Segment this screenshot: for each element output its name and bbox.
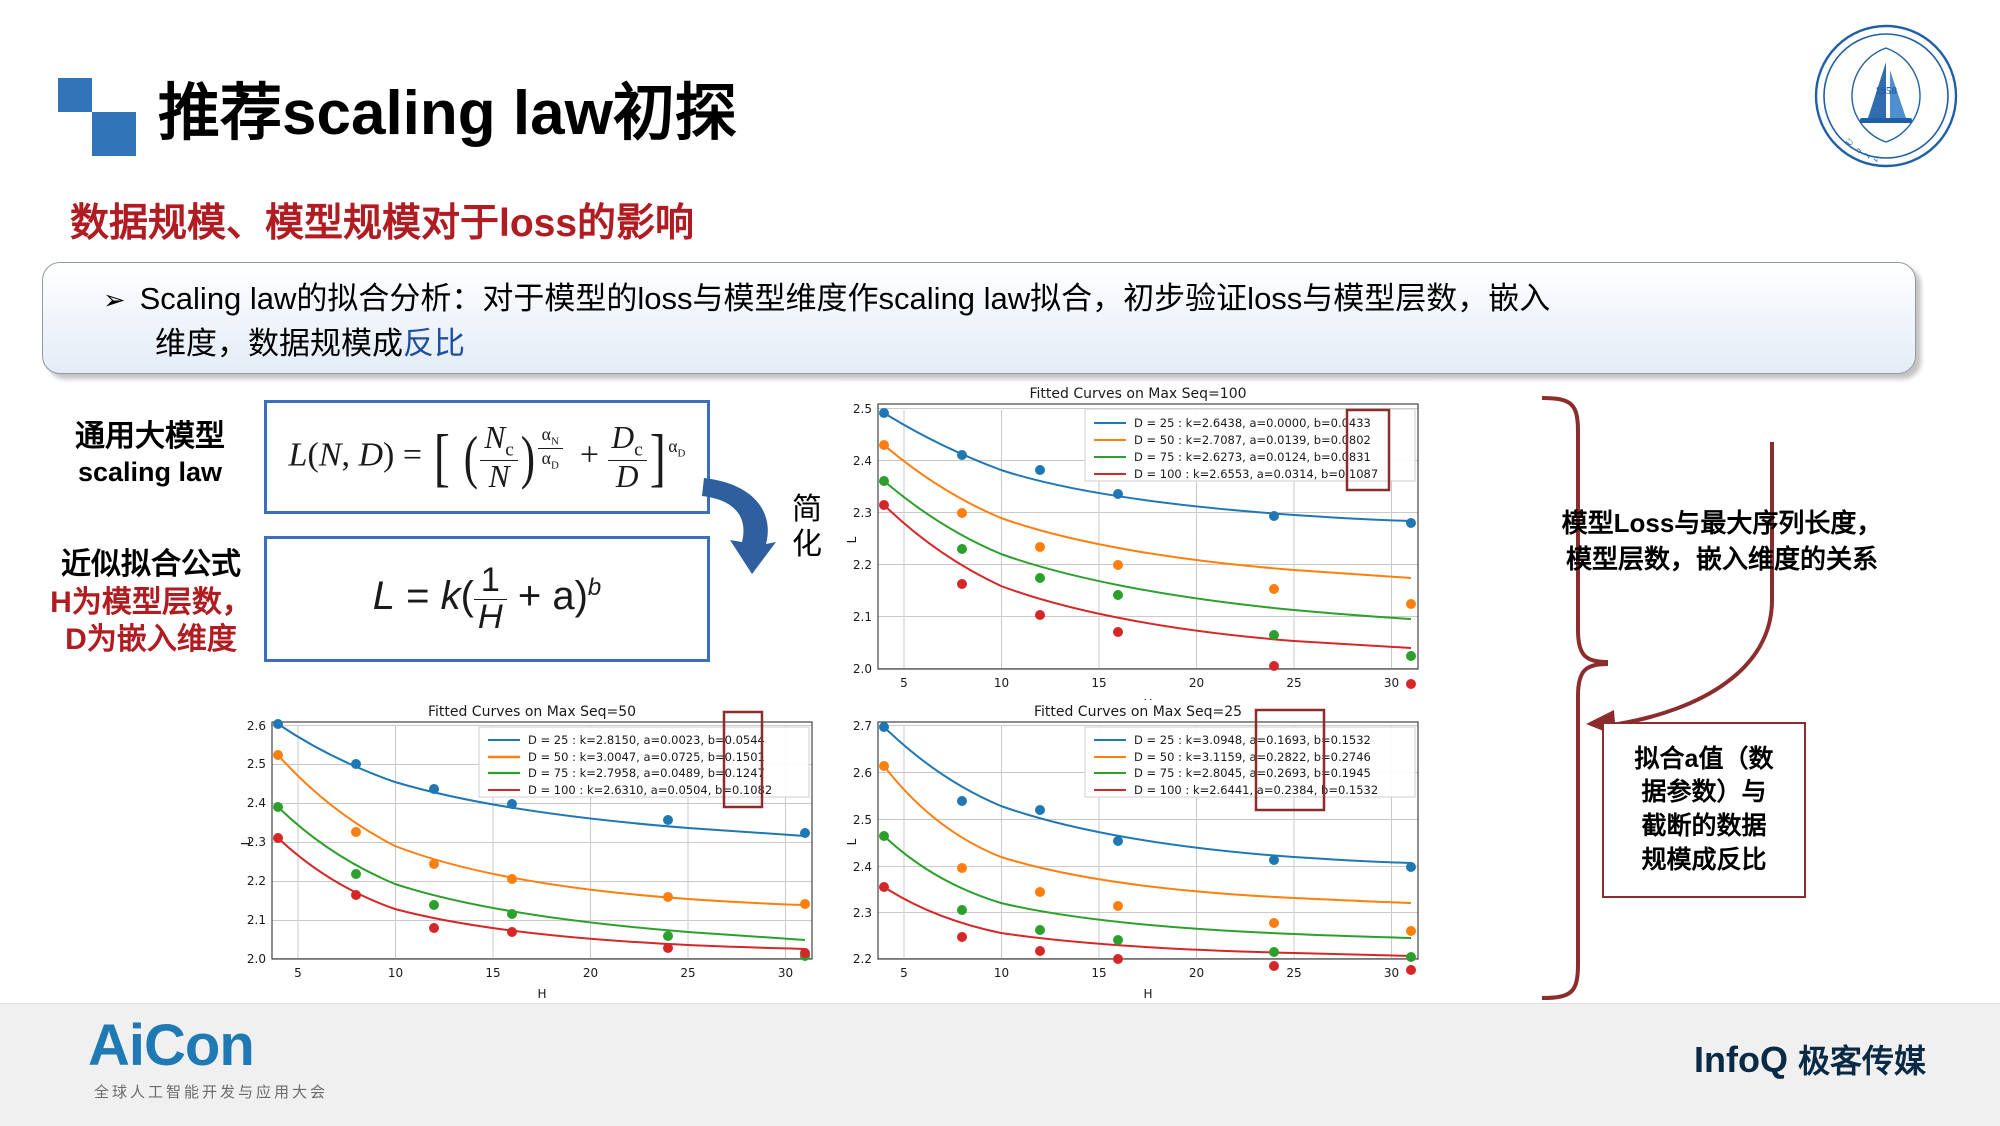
- svg-text:2.1: 2.1: [247, 913, 266, 927]
- svg-text:30: 30: [1384, 676, 1399, 690]
- svg-text:30: 30: [1384, 966, 1399, 980]
- svg-text:2.4: 2.4: [247, 796, 266, 810]
- legend-item: D = 50 : k=3.0047, a=0.0725, b=0.1501: [528, 750, 765, 764]
- annotation-box-line3: 截断的数据: [1635, 810, 1774, 844]
- approx-label-cn: 近似拟合公式: [26, 546, 276, 584]
- chart-legend-25: D = 25 : k=3.0948, a=0.1693, b=0.1532 D …: [1085, 727, 1415, 797]
- logo-year: 1958: [1875, 85, 1898, 97]
- svg-text:25: 25: [680, 966, 695, 980]
- annotation-box-line4: 规模成反比: [1635, 844, 1774, 878]
- svg-text:2.5: 2.5: [853, 813, 872, 827]
- approx-formula-box: L = k( 1H + a)b: [264, 536, 710, 662]
- chart-title-100: Fitted Curves on Max Seq=100: [1029, 386, 1246, 402]
- svg-text:2.6: 2.6: [853, 766, 872, 780]
- legend-item: D = 25 : k=2.8150, a=0.0023, b=0.0544: [528, 733, 765, 747]
- general-scaling-law-label: 通用大模型 scaling law: [50, 418, 250, 489]
- svg-text:2.7: 2.7: [853, 719, 872, 733]
- annotation-box-line2: 据参数）与: [1635, 776, 1774, 810]
- svg-text:2.2: 2.2: [853, 952, 872, 966]
- svg-text:5: 5: [294, 966, 302, 980]
- svg-text:10: 10: [388, 966, 403, 980]
- legend-item: D = 50 : k=3.1159, a=0.2822, b=0.2746: [1134, 750, 1371, 764]
- svg-text:H: H: [1143, 987, 1152, 1001]
- chart-max-seq-50: Fitted Curves on Max Seq=50 2.02.12.2 2.…: [232, 700, 832, 1012]
- approx-note-1: H为模型层数，: [26, 584, 276, 622]
- chart-max-seq-100: Fitted Curves on Max Seq=100 2.02.12.2 2…: [838, 382, 1438, 722]
- legend-item: D = 75 : k=2.6273, a=0.0124, b=0.0831: [1134, 450, 1371, 464]
- svg-text:5: 5: [900, 676, 908, 690]
- chart-legend-50: D = 25 : k=2.8150, a=0.0023, b=0.0544 D …: [479, 727, 809, 797]
- title-bullet-decoration: [58, 78, 136, 156]
- svg-text:2.6: 2.6: [247, 719, 266, 733]
- approx-formula: L = k( 1H + a)b: [373, 563, 602, 634]
- legend-item: D = 25 : k=2.6438, a=0.0000, b=0.0433: [1134, 416, 1371, 430]
- annotation-right-box: 拟合a值（数 据参数）与 截断的数据 规模成反比: [1602, 722, 1806, 898]
- svg-text:L: L: [845, 536, 859, 543]
- svg-text:15: 15: [1091, 676, 1106, 690]
- callout-text: ➢Scaling law的拟合分析：对于模型的loss与模型维度作scaling…: [103, 277, 1903, 367]
- annotation-box-line1: 拟合a值（数: [1635, 743, 1774, 777]
- svg-text:20: 20: [1189, 966, 1204, 980]
- chart-svg-50: Fitted Curves on Max Seq=50 2.02.12.2 2.…: [232, 700, 832, 1012]
- page-title: 推荐scaling law初探: [158, 62, 737, 152]
- svg-text:25: 25: [1286, 676, 1301, 690]
- svg-text:15: 15: [1091, 966, 1106, 980]
- svg-text:2.2: 2.2: [247, 874, 266, 888]
- legend-item: D = 100 : k=2.6310, a=0.0504, b=0.1082: [528, 783, 772, 797]
- chart-title-25: Fitted Curves on Max Seq=25: [1034, 704, 1242, 720]
- callout-emphasis: 反比: [403, 326, 465, 361]
- svg-text:20: 20: [583, 966, 598, 980]
- svg-text:2.1: 2.1: [853, 610, 872, 624]
- svg-text:2.4: 2.4: [853, 454, 872, 468]
- svg-text:2.5: 2.5: [853, 402, 872, 416]
- aicon-logo: AiCon 全球人工智能开发与应用大会: [88, 1012, 328, 1102]
- general-formula: L(N, D) = [ ( Nc N) αNαD + Dc D]αD: [289, 420, 686, 495]
- page-subtitle: 数据规模、模型规模对于loss的影响: [70, 192, 694, 248]
- annotation-right-top-line1: 模型Loss与最大序列长度，: [1512, 505, 1932, 541]
- infoq-logo: InfoQ极客传媒: [1694, 1036, 1926, 1082]
- annotation-connectors: [1400, 380, 2000, 1000]
- legend-item: D = 25 : k=3.0948, a=0.1693, b=0.1532: [1134, 733, 1371, 747]
- approx-formula-label: 近似拟合公式 H为模型层数， D为嵌入维度: [26, 546, 276, 659]
- callout-box: ➢Scaling law的拟合分析：对于模型的loss与模型维度作scaling…: [42, 262, 1916, 374]
- svg-text:15: 15: [485, 966, 500, 980]
- svg-text:2.4: 2.4: [853, 860, 872, 874]
- bullet-arrow-icon: ➢: [103, 285, 126, 315]
- simplify-arrow-icon: [690, 470, 786, 588]
- aicon-brand: AiCon: [88, 1012, 328, 1079]
- chart-svg-100: Fitted Curves on Max Seq=100 2.02.12.2 2…: [838, 382, 1438, 722]
- ustc-logo: 1958 U n i v: [1812, 22, 1960, 170]
- legend-item: D = 75 : k=2.8045, a=0.2693, b=0.1945: [1134, 766, 1371, 780]
- svg-text:25: 25: [1286, 966, 1301, 980]
- general-label-en: scaling law: [50, 456, 250, 490]
- legend-item: D = 75 : k=2.7958, a=0.0489, b=0.1247: [528, 766, 765, 780]
- svg-text:2.2: 2.2: [853, 558, 872, 572]
- legend-item: D = 100 : k=2.6553, a=0.0314, b=0.1087: [1134, 467, 1378, 481]
- general-label-cn: 通用大模型: [50, 418, 250, 456]
- simplify-label: 简化: [790, 492, 824, 563]
- svg-text:2.5: 2.5: [247, 757, 266, 771]
- svg-text:2.3: 2.3: [853, 506, 872, 520]
- svg-text:10: 10: [994, 966, 1009, 980]
- general-formula-box: L(N, D) = [ ( Nc N) αNαD + Dc D]αD: [264, 400, 710, 514]
- svg-text:L: L: [239, 838, 253, 845]
- svg-text:L: L: [845, 838, 859, 845]
- svg-text:20: 20: [1189, 676, 1204, 690]
- annotation-right-top-line2: 模型层数，嵌入维度的关系: [1512, 541, 1932, 577]
- svg-text:2.0: 2.0: [247, 952, 266, 966]
- svg-text:2.0: 2.0: [853, 662, 872, 676]
- callout-line2: 维度，数据规模成: [155, 326, 403, 361]
- callout-line1: Scaling law的拟合分析：对于模型的loss与模型维度作scaling …: [140, 281, 1551, 316]
- chart-legend-100: D = 25 : k=2.6438, a=0.0000, b=0.0433 D …: [1085, 409, 1415, 481]
- annotation-right-top: 模型Loss与最大序列长度， 模型层数，嵌入维度的关系: [1512, 505, 1932, 578]
- chart-svg-25: Fitted Curves on Max Seq=25 2.22.32.4 2.…: [838, 700, 1438, 1012]
- infoq-brand: InfoQ: [1694, 1039, 1788, 1080]
- svg-text:10: 10: [994, 676, 1009, 690]
- svg-text:H: H: [537, 987, 546, 1001]
- chart-max-seq-25: Fitted Curves on Max Seq=25 2.22.32.4 2.…: [838, 700, 1438, 1012]
- svg-text:30: 30: [778, 966, 793, 980]
- chart-title-50: Fitted Curves on Max Seq=50: [428, 704, 636, 720]
- approx-note-2: D为嵌入维度: [26, 621, 276, 659]
- svg-text:2.3: 2.3: [853, 906, 872, 920]
- svg-text:5: 5: [900, 966, 908, 980]
- aicon-brand-sub: 全球人工智能开发与应用大会: [94, 1081, 328, 1102]
- infoq-brand-cn: 极客传媒: [1798, 1043, 1926, 1079]
- legend-item: D = 50 : k=2.7087, a=0.0139, b=0.0802: [1134, 433, 1371, 447]
